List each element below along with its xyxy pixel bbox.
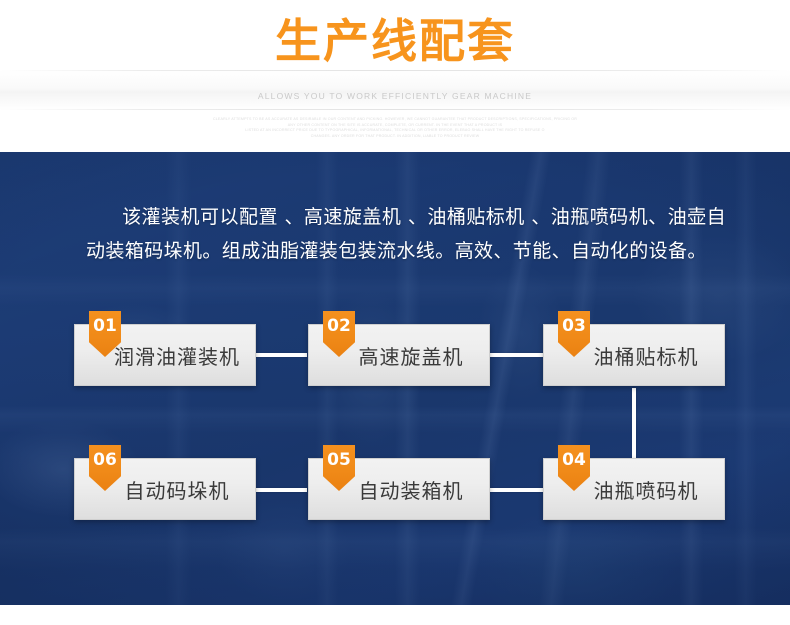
flow-node-06[interactable]: 06 自动码垛机 [74,458,256,520]
flow-node-05[interactable]: 05 自动装箱机 [308,458,490,520]
page-header: 生产线配套 ALLOWS YOU TO WORK EFFICIENTLY GEA… [0,0,790,152]
connector-02-to-03 [490,353,545,357]
fineprint-line-4: CHANGES. ANY ORDER FOR THAT PRODUCT. IN … [0,134,790,140]
product-detail-page: 生产线配套 ALLOWS YOU TO WORK EFFICIENTLY GEA… [0,0,790,625]
header-fineprint: CLEARLY ATTEMPTS TO BE AS ACCURATE AS DE… [0,117,790,139]
page-subtitle: ALLOWS YOU TO WORK EFFICIENTLY GEAR MACH… [0,90,790,102]
page-footer [0,605,790,625]
page-title: 生产线配套 [0,12,790,70]
production-line-flow-diagram: 01 润滑油灌装机 02 高速旋盖机 03 油桶贴标机 06 自动码垛机 05 … [0,152,790,605]
content-panel: 该灌装机可以配置 、高速旋盖机 、油桶贴标机 、油瓶喷码机、油壶自动装箱码垛机。… [0,152,790,605]
connector-05-to-06 [255,488,307,492]
flow-node-04[interactable]: 04 油瓶喷码机 [543,458,725,520]
connector-01-to-02 [255,353,307,357]
connector-04-to-05 [490,488,545,492]
flow-node-03[interactable]: 03 油桶贴标机 [543,324,725,386]
flow-node-01[interactable]: 01 润滑油灌装机 [74,324,256,386]
flow-node-02[interactable]: 02 高速旋盖机 [308,324,490,386]
